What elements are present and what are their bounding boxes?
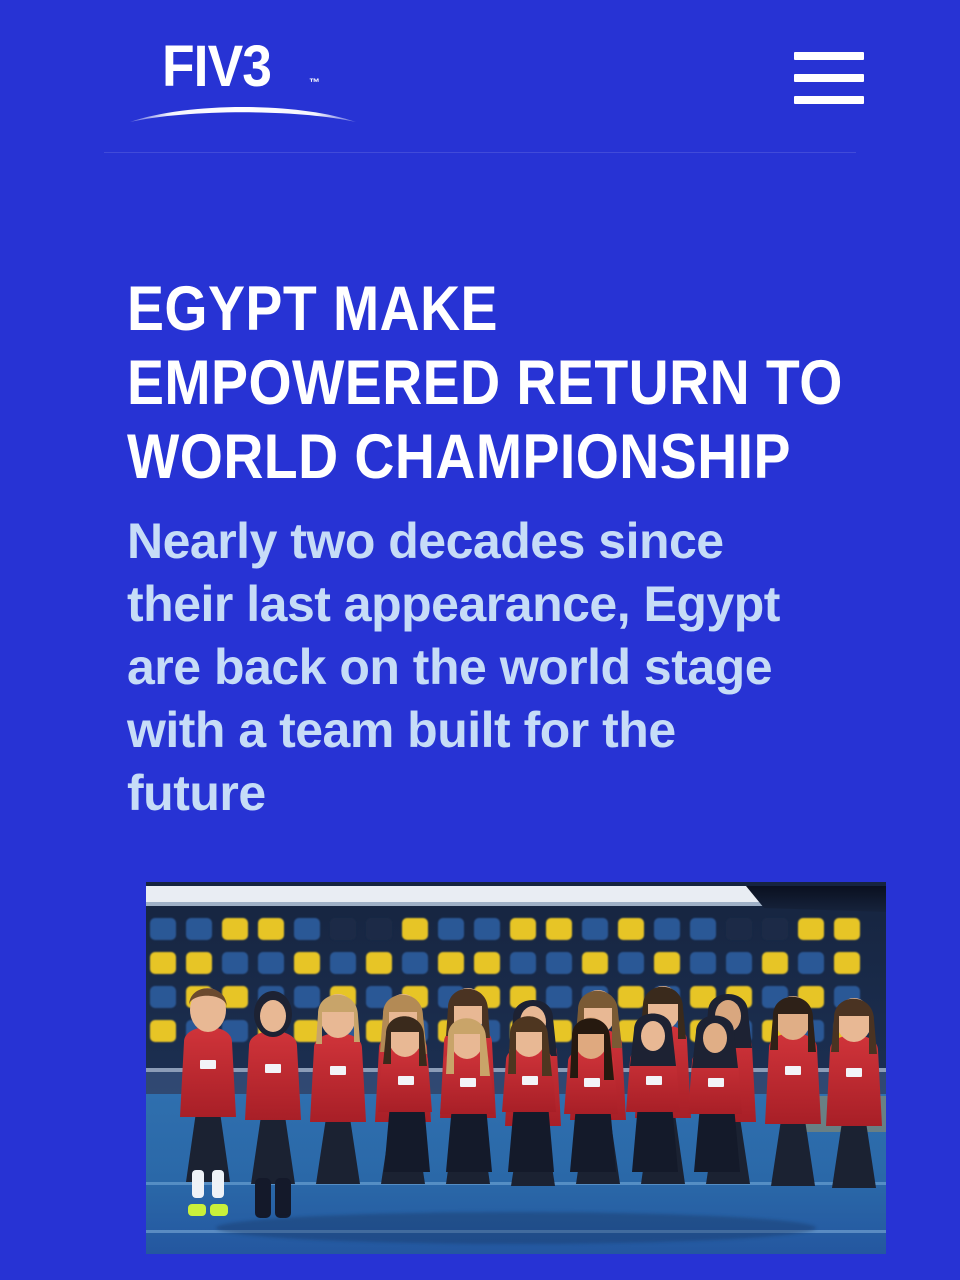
trademark-icon: ™ [309, 78, 320, 89]
fivb-logo[interactable]: FIV3 ™ [128, 38, 358, 130]
header-divider [104, 152, 856, 153]
fivb-swoosh-icon [128, 100, 358, 128]
hamburger-bar-3 [794, 96, 864, 104]
site-header: FIV3 ™ [0, 0, 960, 152]
fivb-wordmark: FIV3 [162, 38, 271, 96]
article-standfirst: Nearly two decades since their last appe… [127, 494, 827, 825]
hamburger-bar-1 [794, 52, 864, 60]
page-root: FIV3 ™ Egyp [0, 0, 960, 1280]
article-headline: Egypt make empowered return to World Cha… [127, 272, 857, 494]
hamburger-bar-2 [794, 74, 864, 82]
article-photo-figure [146, 882, 886, 1254]
team-photo [146, 882, 886, 1254]
hamburger-menu-button[interactable] [794, 50, 864, 106]
article: Egypt make empowered return to World Cha… [127, 272, 857, 825]
